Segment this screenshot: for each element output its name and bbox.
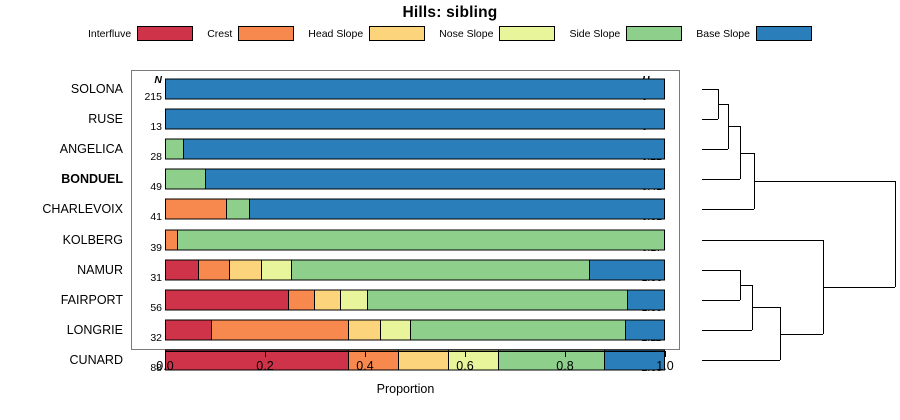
bar-segment[interactable] (166, 79, 664, 98)
dendrogram-link (702, 270, 740, 271)
dendrogram-link (702, 360, 780, 361)
legend-swatch (756, 26, 812, 41)
bar-row[interactable] (165, 108, 665, 129)
dendrogram-link (702, 89, 718, 90)
chart-root: Hills: sibling InterfluveCrestHead Slope… (0, 0, 900, 420)
dendrogram-link (718, 104, 728, 105)
dendrogram-link (754, 181, 895, 182)
legend-item[interactable]: Crest (207, 26, 294, 41)
legend-swatch (626, 26, 682, 41)
bar-segment[interactable] (315, 290, 341, 309)
dendrogram-link (702, 209, 754, 210)
dendrogram-link (780, 334, 823, 335)
bar-segment[interactable] (250, 200, 664, 219)
dendrogram-link (823, 287, 895, 288)
y-axis-labels: SOLONARUSEANGELICABONDUELCHARLEVOIXKOLBE… (0, 70, 127, 350)
x-axis-tick (365, 351, 366, 357)
dendrogram-link (740, 285, 752, 286)
x-axis-tick-label: 0.2 (256, 359, 273, 373)
bar-segment[interactable] (590, 260, 664, 279)
legend-item-label: Head Slope (308, 28, 363, 40)
bar-segment[interactable] (166, 260, 199, 279)
bar-segment[interactable] (178, 230, 664, 249)
legend-item[interactable]: Base Slope (696, 26, 812, 41)
n-value: 31 (150, 272, 162, 284)
legend-item-label: Interfluve (88, 28, 131, 40)
x-axis-tick-label: 1.0 (656, 359, 673, 373)
y-axis-label: KOLBERG (63, 233, 123, 247)
bar-segment[interactable] (230, 260, 262, 279)
n-value: 41 (150, 211, 162, 223)
dendrogram-link (752, 307, 780, 308)
legend-swatch (137, 26, 193, 41)
x-axis-title: Proportion (131, 382, 680, 396)
legend-item[interactable]: Side Slope (569, 26, 682, 41)
n-value: 13 (150, 121, 162, 133)
n-value: 39 (150, 242, 162, 254)
bar-segment[interactable] (349, 321, 381, 340)
y-axis-label: FAIRPORT (61, 293, 123, 307)
n-value: 28 (150, 151, 162, 163)
bar-segment[interactable] (262, 260, 293, 279)
dendrogram-link (702, 330, 752, 331)
n-value: 56 (150, 302, 162, 314)
legend-item-label: Side Slope (569, 28, 620, 40)
bar-row[interactable] (165, 199, 665, 220)
legend-item-label: Nose Slope (439, 28, 493, 40)
legend-item-label: Base Slope (696, 28, 750, 40)
dendrogram-link (728, 126, 740, 127)
bar-segment[interactable] (628, 290, 664, 309)
bar-segment[interactable] (292, 260, 590, 279)
bar-segment[interactable] (206, 170, 664, 189)
bar-row[interactable] (165, 320, 665, 341)
legend-item[interactable]: Nose Slope (439, 26, 555, 41)
x-axis-tick (165, 351, 166, 357)
bar-segment[interactable] (184, 139, 664, 158)
x-axis-tick-label: 0.8 (556, 359, 573, 373)
bar-segment[interactable] (166, 200, 227, 219)
bar-row[interactable] (165, 138, 665, 159)
dendrogram-link (702, 119, 718, 120)
bar-row[interactable] (165, 229, 665, 250)
bar-segment[interactable] (227, 200, 250, 219)
legend-swatch (238, 26, 294, 41)
bar-segment[interactable] (166, 230, 178, 249)
y-axis-label: CUNARD (70, 353, 123, 367)
dendrogram-link (702, 240, 823, 241)
legend-item[interactable]: Interfluve (88, 26, 193, 41)
bar-segment[interactable] (605, 351, 664, 370)
legend: InterfluveCrestHead SlopeNose SlopeSide … (0, 26, 900, 41)
bar-segment[interactable] (499, 351, 606, 370)
bar-row[interactable] (165, 259, 665, 280)
bar-row[interactable] (165, 350, 665, 371)
y-axis-label: RUSE (88, 112, 123, 126)
x-axis-tick (565, 351, 566, 357)
bar-segment[interactable] (166, 109, 664, 128)
bar-segment[interactable] (368, 290, 628, 309)
y-axis-label: SOLONA (71, 82, 123, 96)
bar-segment[interactable] (166, 290, 289, 309)
n-value: 215 (144, 91, 162, 103)
dendrogram-link (740, 153, 754, 154)
y-axis-label: BONDUEL (61, 172, 123, 186)
n-value: 49 (150, 181, 162, 193)
n-column-header: N (154, 74, 162, 86)
legend-item[interactable]: Head Slope (308, 26, 425, 41)
n-value: 32 (150, 332, 162, 344)
bar-segment[interactable] (212, 321, 349, 340)
legend-swatch (369, 26, 425, 41)
x-axis-tick-label: 0.4 (356, 359, 373, 373)
bar-segment[interactable] (341, 290, 368, 309)
bar-segment[interactable] (399, 351, 449, 370)
bar-segment[interactable] (626, 321, 664, 340)
dendrogram-link (702, 149, 728, 150)
bar-segment[interactable] (166, 321, 212, 340)
dendrogram (690, 70, 898, 350)
x-axis-tick-label: 0.6 (456, 359, 473, 373)
bar-segment[interactable] (199, 260, 230, 279)
x-axis-tick (665, 351, 666, 357)
y-axis-label: ANGELICA (60, 142, 123, 156)
x-axis-tick-label: 0.0 (156, 359, 173, 373)
bar-segment[interactable] (411, 321, 626, 340)
y-axis-label: LONGRIE (67, 323, 123, 337)
bar-segment[interactable] (381, 321, 411, 340)
x-axis-line (165, 351, 665, 352)
x-axis-tick (465, 351, 466, 357)
bar-segment[interactable] (289, 290, 316, 309)
dendrogram-link (895, 181, 896, 287)
bar-row[interactable] (165, 289, 665, 310)
dendrogram-link (702, 179, 740, 180)
dendrogram-link (702, 300, 740, 301)
page-title: Hills: sibling (0, 4, 900, 22)
bar-segment[interactable] (166, 139, 184, 158)
legend-item-label: Crest (207, 28, 232, 40)
y-axis-label: NAMUR (77, 263, 123, 277)
bar-row[interactable] (165, 169, 665, 190)
x-axis-tick (265, 351, 266, 357)
y-axis-label: CHARLEVOIX (42, 202, 123, 216)
bar-segment[interactable] (166, 170, 206, 189)
n-column: N 215132849413931563288 (132, 70, 164, 350)
bar-row[interactable] (165, 78, 665, 99)
legend-swatch (499, 26, 555, 41)
